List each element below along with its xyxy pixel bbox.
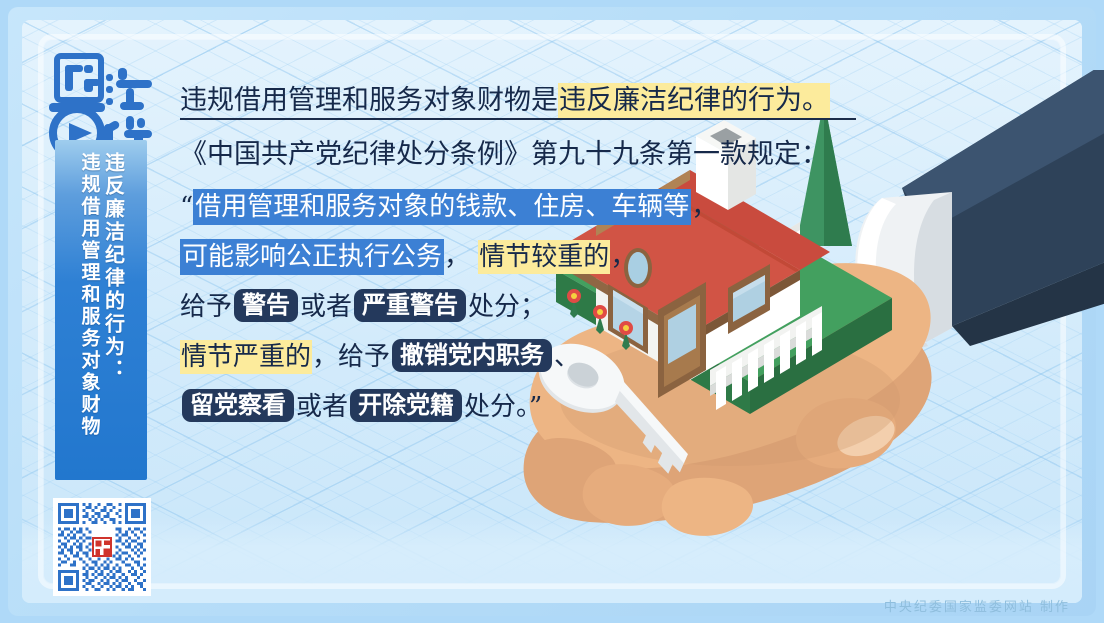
penalty-pill-serious-warning: 严重警告 <box>354 289 466 322</box>
text-line-2: 《中国共产党纪律处分条例》第九十九条第一款规定： <box>180 132 860 178</box>
close-quote: ” <box>529 392 542 422</box>
line5-or: 或者 <box>300 292 352 322</box>
vertical-title-banner: 违反廉洁纪律的行为： 违规借用管理和服务对象财物 <box>55 140 147 480</box>
line3-highlight: 借用管理和服务对象的钱款、住房、车辆等 <box>193 189 691 225</box>
logo-char-ji-inner <box>65 65 100 92</box>
logo-char-ji <box>57 56 101 100</box>
line6-highlight-yellow: 情节严重的 <box>180 340 312 374</box>
penalty-pill-probation: 留党察看 <box>182 389 294 422</box>
main-text-block: 违规借用管理和服务对象财物是违反廉洁纪律的行为。 《中国共产党纪律处分条例》第九… <box>180 78 860 430</box>
open-quote: “ <box>180 192 193 222</box>
line4-comma-1: ， <box>444 242 470 272</box>
banner-column-right: 违反廉洁纪律的行为： <box>102 152 123 480</box>
line5-prefix: 给予 <box>180 292 232 322</box>
line4-comma-2: ， <box>610 242 636 272</box>
text-line-5: 给予警告或者严重警告处分； <box>180 284 860 330</box>
line4-highlight-yellow: 情节较重的 <box>478 240 610 274</box>
line5-suffix: 处分； <box>468 292 546 322</box>
penalty-pill-expulsion: 开除党籍 <box>350 389 462 422</box>
line3-tail: ， <box>691 192 717 222</box>
regulation-citation: 《中国共产党纪律处分条例》第九十九条第一款规定： <box>180 139 828 170</box>
banner-column-left: 违规借用管理和服务对象财物 <box>79 152 99 480</box>
line4-highlight-blue: 可能影响公正执行公务 <box>180 239 444 275</box>
footer-credit: 中央纪委国家监委网站 制作 <box>884 596 1070 615</box>
qr-code[interactable] <box>53 498 151 596</box>
red-seal-icon <box>91 536 112 557</box>
poster-root: 违反廉洁纪律的行为： 违规借用管理和服务对象财物 <box>0 0 1104 623</box>
text-line-6: 情节严重的，给予撤销党内职务、 <box>180 334 860 380</box>
line7-or: 或者 <box>296 392 348 422</box>
line6-mid: ，给予 <box>312 342 390 372</box>
line1-plain: 违规借用管理和服务对象财物是 <box>180 85 558 116</box>
text-line-3: “借用管理和服务对象的钱款、住房、车辆等， <box>180 184 860 230</box>
text-line-4: 可能影响公正执行公务， 情节较重的， <box>180 234 860 280</box>
line1-highlight: 违反廉洁纪律的行为。 <box>558 83 830 118</box>
line6-suffix: 、 <box>554 342 580 372</box>
text-line-7: 留党察看或者开除党籍处分。” <box>180 384 860 430</box>
line1-underline <box>180 118 856 120</box>
line7-suffix: 处分。 <box>464 392 529 422</box>
logo-char-fa <box>106 68 152 110</box>
penalty-pill-warning: 警告 <box>234 289 298 322</box>
text-line-1: 违规借用管理和服务对象财物是违反廉洁纪律的行为。 <box>180 78 860 124</box>
penalty-pill-remove-party-post: 撤销党内职务 <box>392 339 552 372</box>
